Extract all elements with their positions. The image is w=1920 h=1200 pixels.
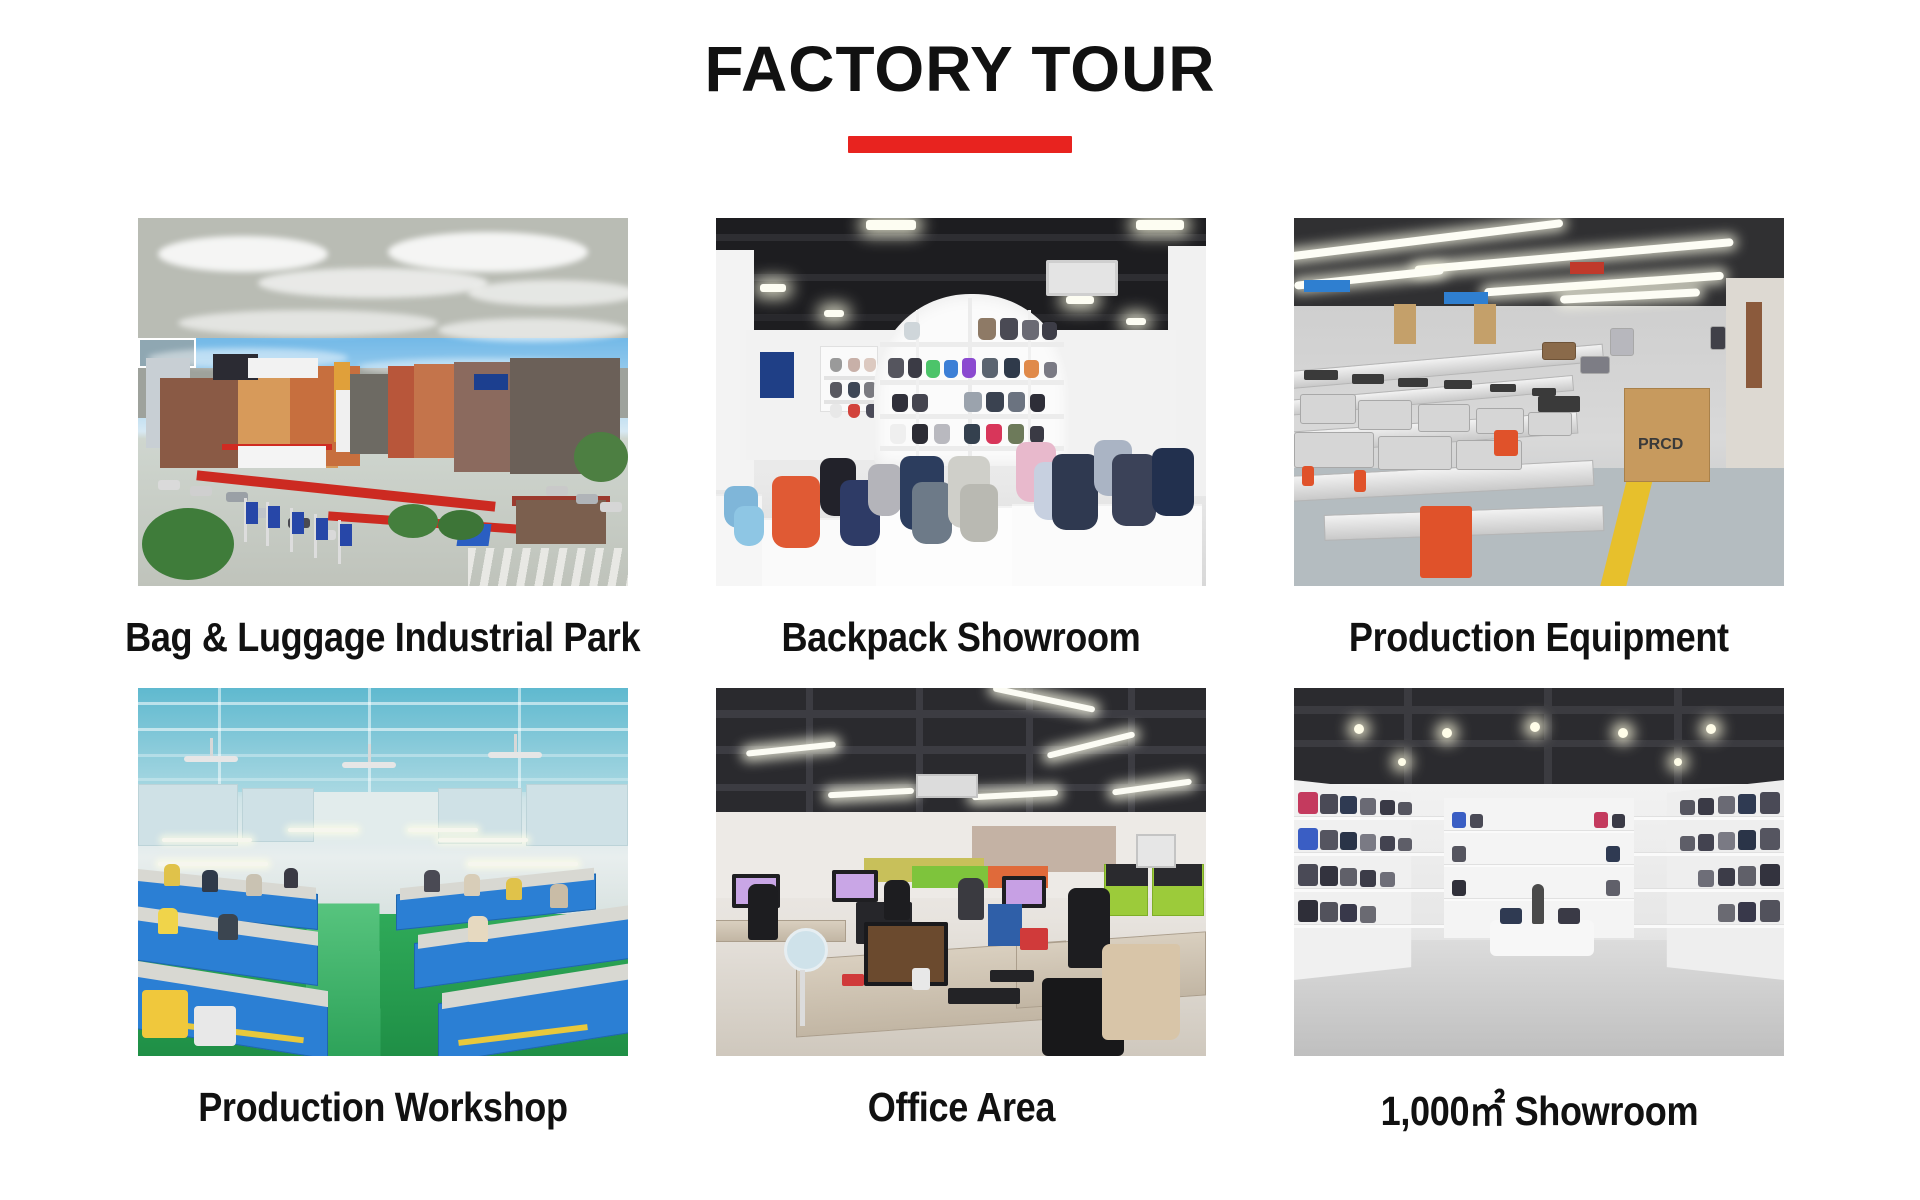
page-header: FACTORY TOUR bbox=[0, 0, 1920, 190]
factory-tour-page: FACTORY TOUR bbox=[0, 0, 1920, 1200]
factory-tour-gallery: PRCD Bag & Luggage Industrial Park Backp… bbox=[138, 218, 1784, 1158]
gallery-image-bag-luggage-industrial-park[interactable] bbox=[138, 218, 628, 586]
gallery-image-backpack-showroom[interactable] bbox=[716, 218, 1206, 586]
gallery-image-production-workshop[interactable] bbox=[138, 688, 628, 1056]
gallery-image-production-equipment[interactable]: PRCD bbox=[1294, 218, 1784, 586]
gallery-caption-showroom-1000-sqm: 1,000㎡ Showroom bbox=[1294, 1056, 1784, 1158]
gallery-image-office-area[interactable] bbox=[716, 688, 1206, 1056]
gallery-caption-backpack-showroom: Backpack Showroom bbox=[716, 586, 1206, 688]
gallery-image-showroom-1000-sqm[interactable] bbox=[1294, 688, 1784, 1056]
gallery-caption-production-equipment: Production Equipment bbox=[1294, 586, 1784, 688]
gallery-caption-office-area: Office Area bbox=[716, 1056, 1206, 1158]
title-underline-accent bbox=[848, 136, 1072, 153]
page-title: FACTORY TOUR bbox=[0, 36, 1920, 103]
gallery-caption-bag-luggage-industrial-park: Bag & Luggage Industrial Park bbox=[138, 586, 628, 688]
carton-label: PRCD bbox=[1638, 436, 1683, 454]
gallery-caption-production-workshop: Production Workshop bbox=[138, 1056, 628, 1158]
